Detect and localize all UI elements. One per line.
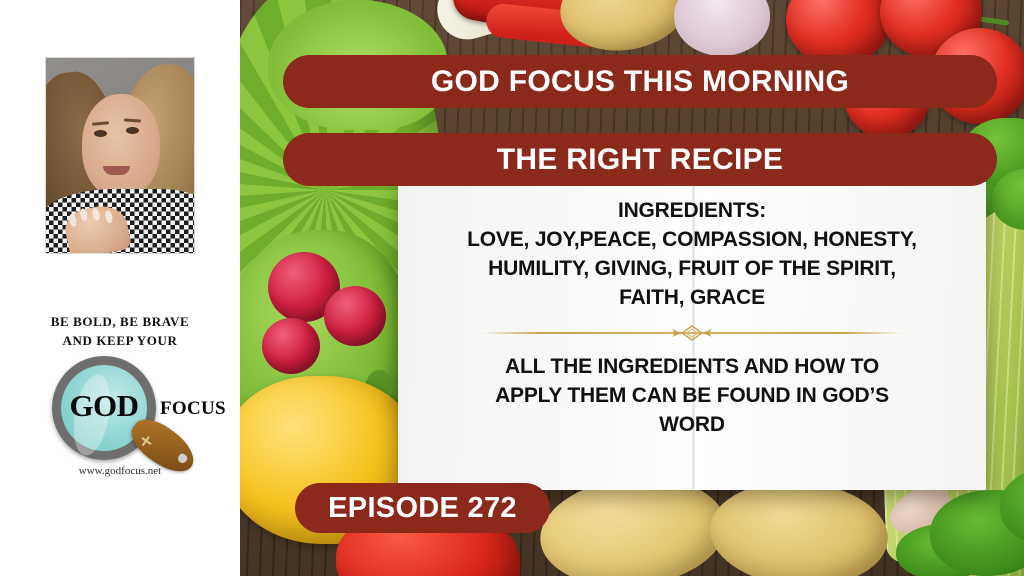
fingernail — [91, 207, 101, 221]
subtitle-banner: THE RIGHT RECIPE — [283, 133, 997, 186]
episode-badge: EPISODE 272 — [295, 483, 550, 533]
eye-left — [94, 130, 107, 137]
slide-canvas: INGREDIENTS: LOVE, JOY,PEACE, COMPASSION… — [0, 0, 1024, 576]
tagline-line-2: AND KEEP YOUR — [0, 331, 240, 350]
tagline: BE BOLD, BE BRAVE AND KEEP YOUR — [0, 312, 240, 350]
left-branding-panel: BE BOLD, BE BRAVE AND KEEP YOUR GOD FOCU… — [0, 0, 240, 576]
title-banner: GOD FOCUS THIS MORNING — [283, 55, 997, 108]
eye-right — [126, 127, 139, 134]
closing-line-3: WORD — [410, 410, 974, 439]
recipe-card: INGREDIENTS: LOVE, JOY,PEACE, COMPASSION… — [398, 182, 986, 490]
closing-line-1: ALL THE INGREDIENTS AND HOW TO — [410, 352, 974, 381]
website-url: www.godfocus.net — [0, 465, 240, 477]
ingredients-line-1: LOVE, JOY,PEACE, COMPASSION, HONESTY, — [410, 225, 974, 254]
fingernail — [68, 213, 78, 227]
tagline-line-1: BE BOLD, BE BRAVE — [0, 312, 240, 331]
fingernail — [79, 208, 89, 222]
face — [82, 94, 160, 198]
ingredients-line-2: HUMILITY, GIVING, FRUIT OF THE SPIRIT, — [410, 254, 974, 283]
logo-word-god: GOD — [52, 388, 156, 424]
fingernail — [104, 210, 114, 224]
radish-icon — [262, 318, 320, 374]
closing-line-2: APPLY THEM CAN BE FOUND IN GOD’S — [410, 381, 974, 410]
radish-icon — [324, 286, 386, 346]
ingredients-heading: INGREDIENTS: — [410, 196, 974, 225]
logo-word-focus: FOCUS — [160, 398, 226, 420]
ornamental-divider — [482, 324, 902, 342]
diamond-ornament-icon — [662, 324, 722, 342]
ingredients-line-3: FAITH, GRACE — [410, 283, 974, 312]
host-portrait-photo — [45, 57, 195, 254]
god-focus-logo: GOD FOCUS — [0, 352, 240, 470]
